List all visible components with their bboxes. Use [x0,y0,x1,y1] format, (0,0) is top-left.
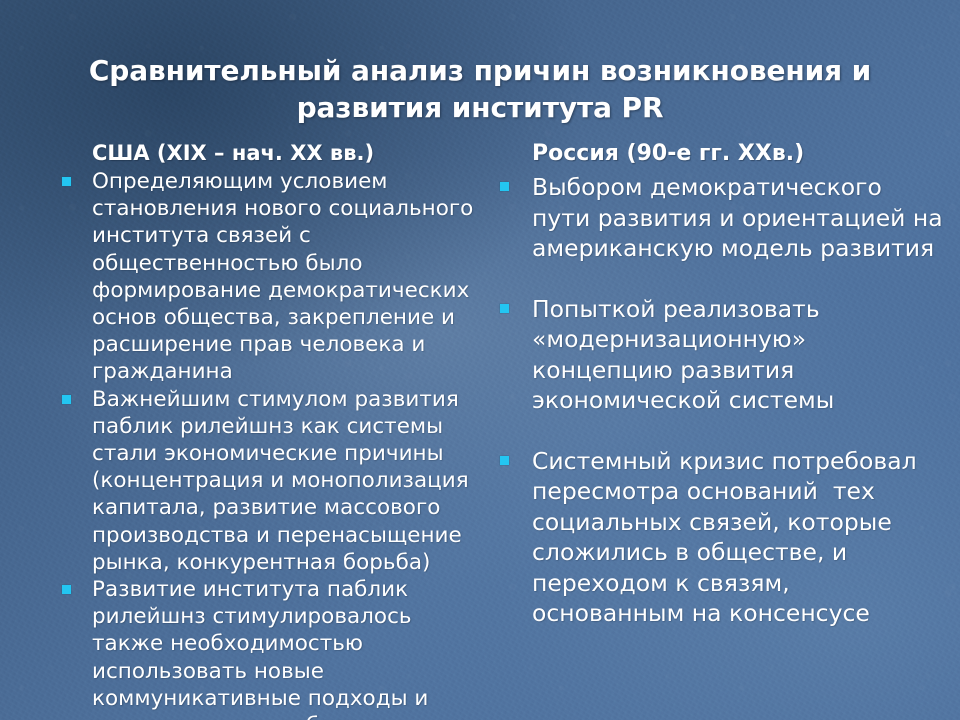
list-item-text: Развитие института паблик рилейшнз стиму… [92,577,435,720]
list-item: Выбором демократического пути развития и… [496,172,946,264]
list-item-text: Попыткой реализовать «модернизационную» … [532,295,834,415]
square-bullet-icon [62,395,71,404]
left-bullet-list: Определяющим условием становления нового… [58,168,478,720]
right-bullet-list: Выбором демократического пути развития и… [496,172,946,629]
list-item-text: Определяющим условием становления нового… [92,169,480,384]
right-column-heading: Россия (90-е гг. XXв.) [532,140,946,168]
square-bullet-icon [62,585,71,594]
list-item: Важнейшим стимулом развития паблик рилей… [58,386,478,576]
square-bullet-icon [62,177,71,186]
list-item-text: Выбором демократического пути развития и… [532,173,950,262]
slide-title: Сравнительный анализ причин возникновени… [48,52,912,126]
square-bullet-icon [500,304,509,313]
list-item: Развитие института паблик рилейшнз стиму… [58,576,478,720]
left-column-heading: США (XIX – нач. XX вв.) [92,140,478,166]
presentation-slide: Сравнительный анализ причин возникновени… [0,0,960,720]
right-content-column: Россия (90-е гг. XXв.) Выбором демократи… [496,140,946,629]
list-item: Системный кризис потребовал пересмотра о… [496,446,946,629]
square-bullet-icon [500,456,509,465]
list-item-text: Системный кризис потребовал пересмотра о… [532,447,924,628]
left-content-column: США (XIX – нач. XX вв.) Определяющим усл… [58,140,478,720]
list-item: Попыткой реализовать «модернизационную» … [496,294,946,416]
list-item-text: Важнейшим стимулом развития паблик рилей… [92,387,476,575]
list-item: Определяющим условием становления нового… [58,168,478,386]
square-bullet-icon [500,182,509,191]
